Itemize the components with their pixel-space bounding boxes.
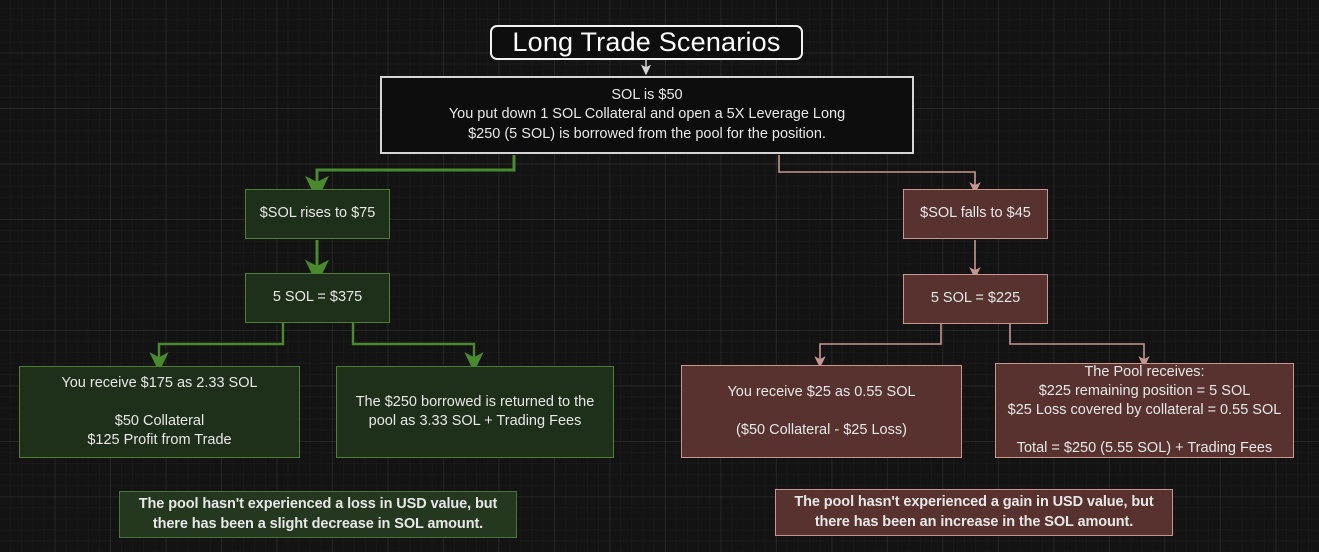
diagram-title: Long Trade Scenarios bbox=[490, 25, 803, 60]
link-value-to-pool-down bbox=[1010, 323, 1144, 362]
link-header-to-rise bbox=[317, 155, 514, 188]
node-trader-outcome-up: You receive $175 as 2.33 SOL $50 Collate… bbox=[19, 366, 300, 458]
link-value-to-pool-up bbox=[353, 323, 474, 362]
node-value-up-label: 5 SOL = $375 bbox=[273, 288, 362, 307]
link-header-to-fall bbox=[779, 155, 975, 188]
node-trader-outcome-down-text: You receive $25 as 0.55 SOL ($50 Collate… bbox=[727, 383, 915, 440]
diagram-title-label: Long Trade Scenarios bbox=[512, 25, 780, 61]
node-trader-outcome-up-text: You receive $175 as 2.33 SOL $50 Collate… bbox=[61, 374, 257, 451]
node-pool-outcome-down-text: The Pool receives: $225 remaining positi… bbox=[1008, 363, 1282, 459]
node-value-down: 5 SOL = $225 bbox=[903, 274, 1048, 324]
node-value-up: 5 SOL = $375 bbox=[245, 273, 390, 323]
scenario-setup-box: SOL is $50 You put down 1 SOL Collateral… bbox=[380, 76, 914, 154]
summary-up-text: The pool hasn't experienced a loss in US… bbox=[139, 495, 497, 533]
node-pool-outcome-up: The $250 borrowed is returned to the poo… bbox=[336, 366, 614, 458]
node-trader-outcome-down: You receive $25 as 0.55 SOL ($50 Collate… bbox=[681, 365, 962, 458]
node-sol-falls-label: $SOL falls to $45 bbox=[920, 204, 1031, 223]
link-value-to-trader-down bbox=[820, 323, 941, 362]
summary-down-text: The pool hasn't experienced a gain in US… bbox=[794, 493, 1153, 531]
diagram-canvas: Long Trade Scenarios SOL is $50 You put … bbox=[0, 0, 1319, 552]
node-pool-outcome-down: The Pool receives: $225 remaining positi… bbox=[995, 363, 1294, 458]
summary-down: The pool hasn't experienced a gain in US… bbox=[775, 489, 1173, 536]
scenario-setup-text: SOL is $50 You put down 1 SOL Collateral… bbox=[449, 86, 845, 143]
summary-up: The pool hasn't experienced a loss in US… bbox=[119, 491, 517, 538]
node-sol-rises: $SOL rises to $75 bbox=[245, 189, 390, 239]
link-value-to-trader-up bbox=[159, 323, 283, 362]
node-sol-rises-label: $SOL rises to $75 bbox=[260, 204, 376, 223]
node-value-down-label: 5 SOL = $225 bbox=[931, 289, 1020, 308]
node-sol-falls: $SOL falls to $45 bbox=[903, 189, 1048, 239]
node-pool-outcome-up-text: The $250 borrowed is returned to the poo… bbox=[356, 393, 595, 431]
